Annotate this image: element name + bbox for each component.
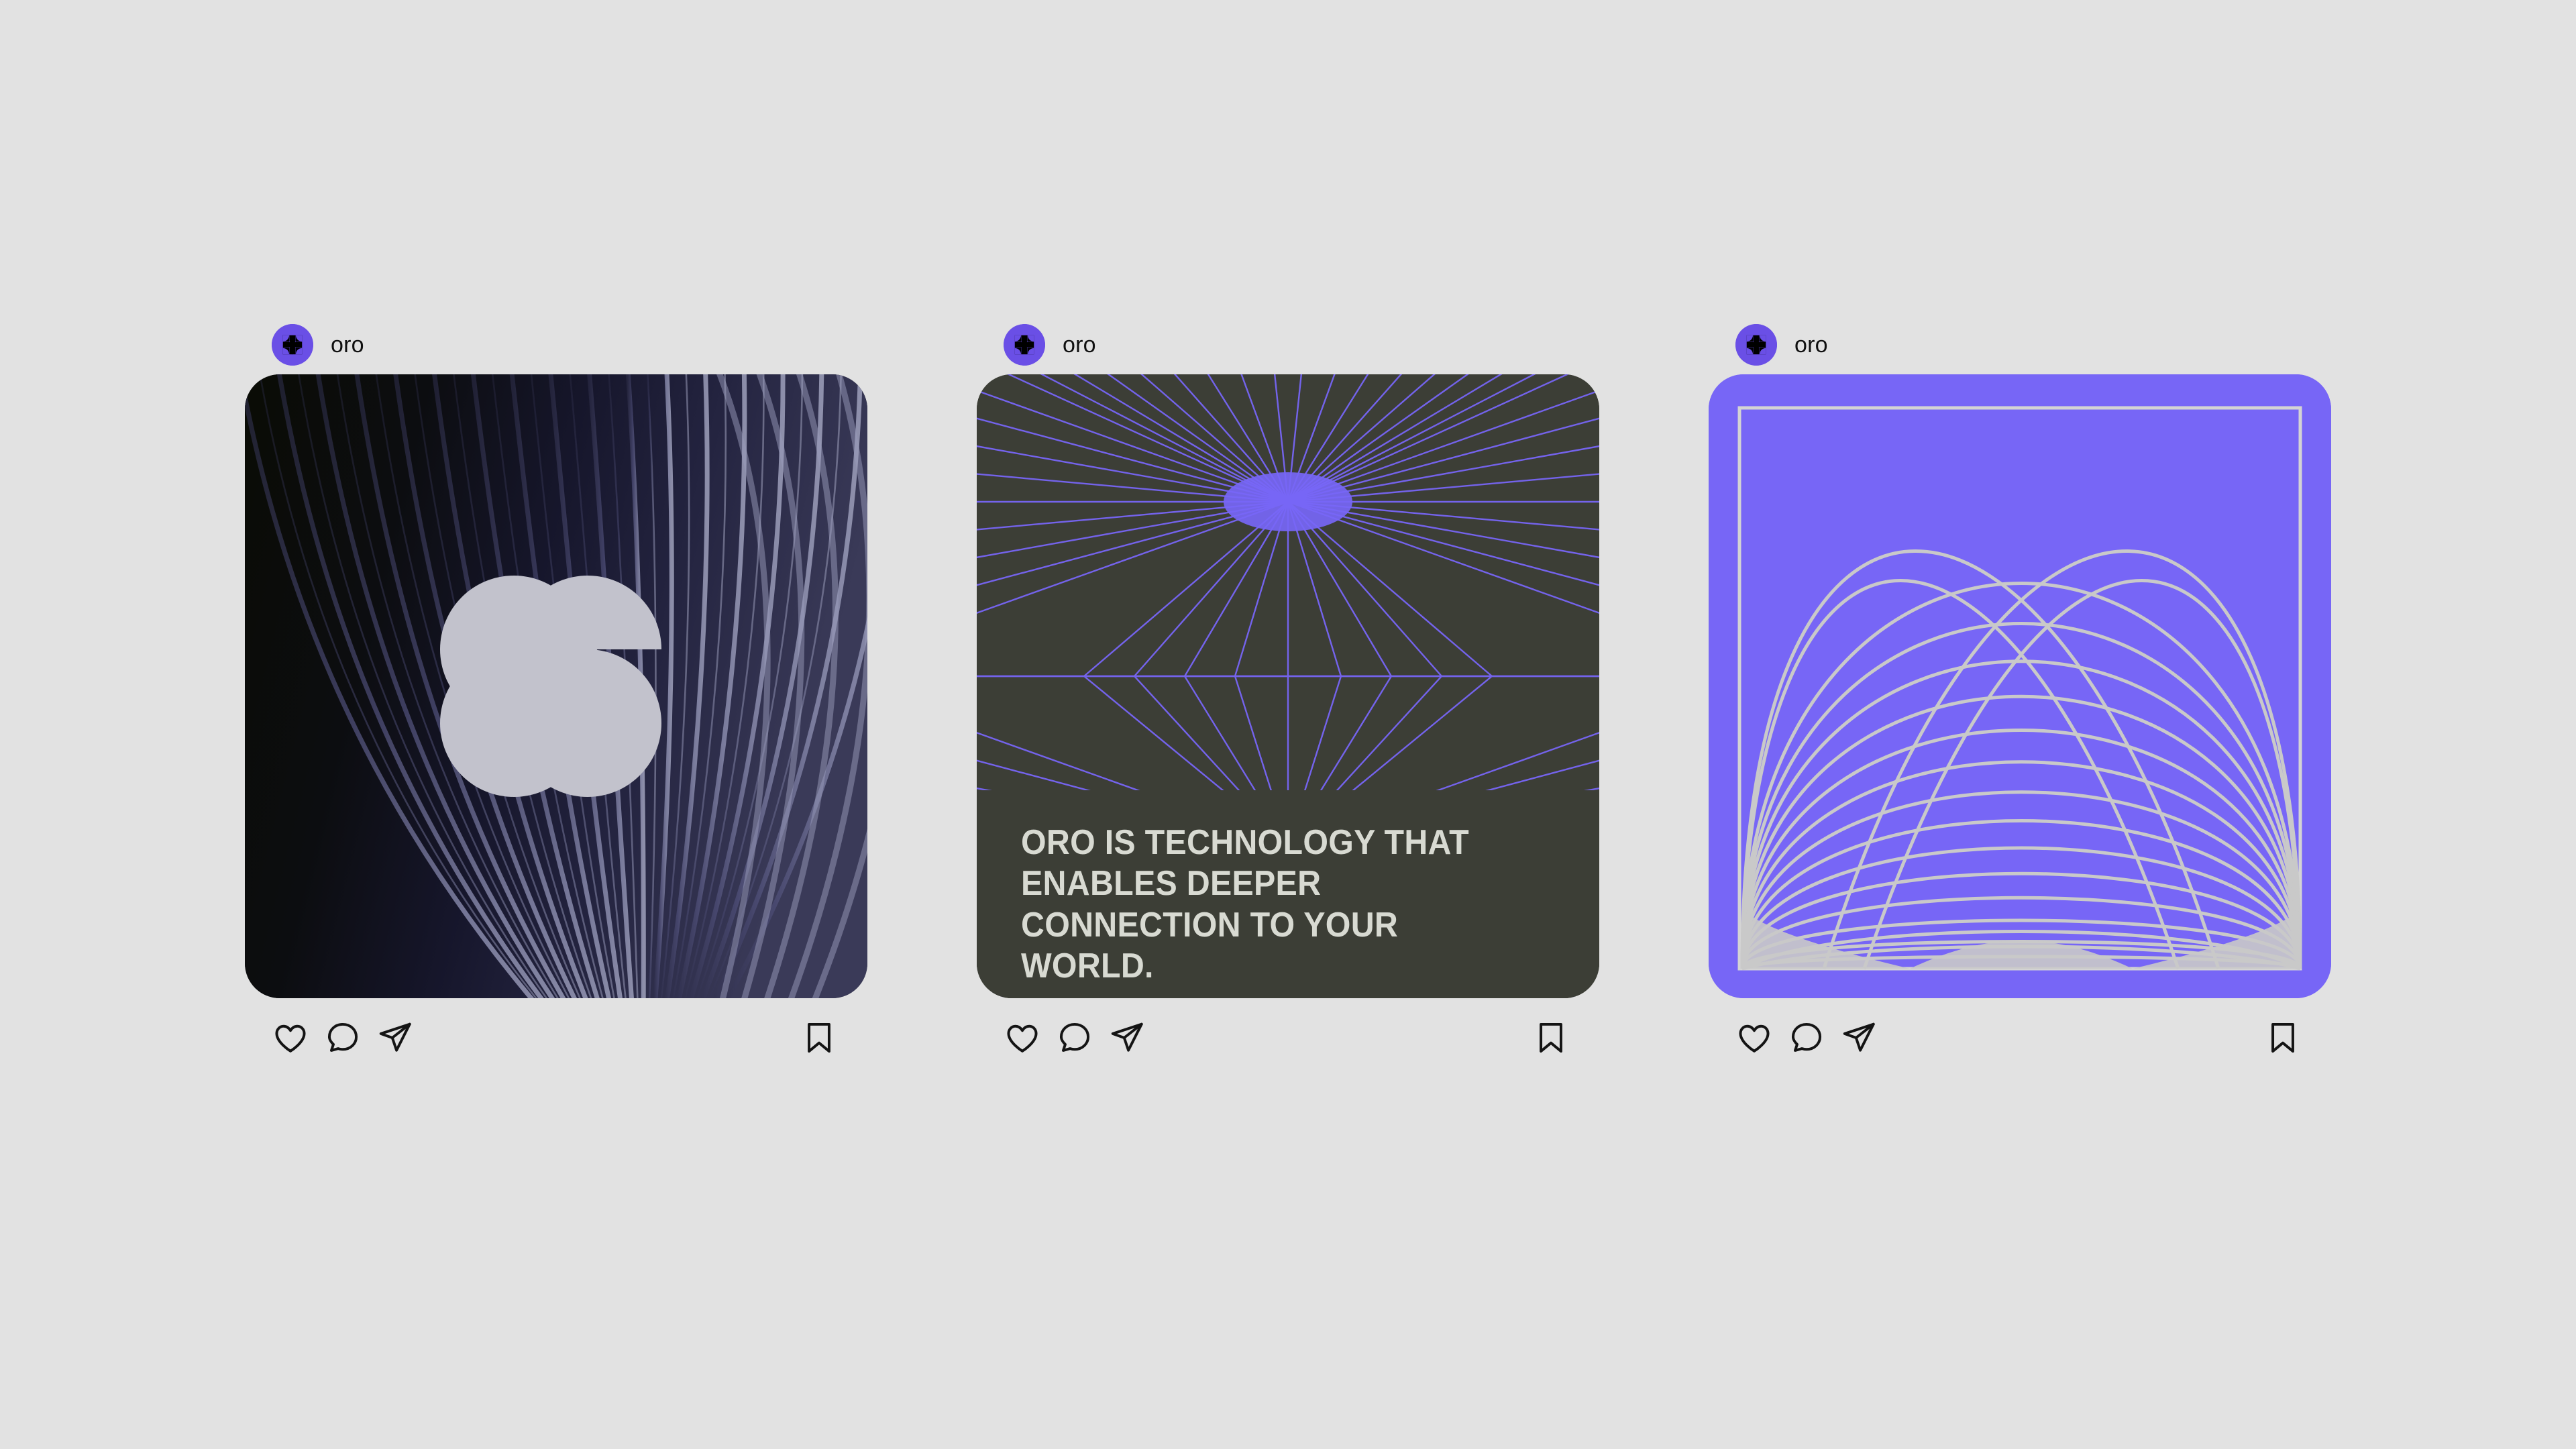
post-actions	[1709, 998, 2331, 1077]
post-media[interactable]	[245, 374, 867, 998]
heart-icon	[272, 1019, 309, 1057]
post-caption: ORO IS TECHNOLOGY THAT ENABLES DEEPER CO…	[977, 790, 1599, 998]
share-button[interactable]	[374, 1016, 417, 1059]
bookmark-icon	[800, 1019, 838, 1057]
oro-rosette-logo-icon	[1735, 324, 1777, 366]
paper-plane-icon	[1840, 1019, 1878, 1057]
avatar[interactable]	[1004, 324, 1045, 366]
like-button[interactable]	[1733, 1016, 1776, 1059]
paper-plane-icon	[1108, 1019, 1146, 1057]
comment-button[interactable]	[1785, 1016, 1828, 1059]
comment-bubble-icon	[1788, 1019, 1825, 1057]
save-button[interactable]	[1529, 1016, 1572, 1059]
post-card: oro	[245, 315, 867, 1077]
nested-arc-image	[1709, 374, 2331, 998]
heart-icon	[1004, 1019, 1041, 1057]
comment-button[interactable]	[1053, 1016, 1096, 1059]
bookmark-icon	[1532, 1019, 1570, 1057]
post-header[interactable]: oro	[1709, 315, 2331, 374]
post-actions	[245, 998, 867, 1077]
save-button[interactable]	[2261, 1016, 2304, 1059]
oro-rosette-logo-icon	[272, 324, 313, 366]
heart-icon	[1735, 1019, 1773, 1057]
post-feed: oro	[245, 315, 2338, 1077]
avatar[interactable]	[1735, 324, 1777, 366]
post-actions-left	[269, 1016, 417, 1059]
share-button[interactable]	[1106, 1016, 1148, 1059]
share-button[interactable]	[1837, 1016, 1880, 1059]
comment-button[interactable]	[321, 1016, 364, 1059]
post-actions-left	[1001, 1016, 1148, 1059]
like-button[interactable]	[1001, 1016, 1044, 1059]
post-actions-left	[1733, 1016, 1880, 1059]
comment-bubble-icon	[1056, 1019, 1093, 1057]
oro-rosette-logo-icon	[1004, 324, 1045, 366]
comment-bubble-icon	[324, 1019, 362, 1057]
post-header[interactable]: oro	[245, 315, 867, 374]
ribbed-wave-image	[245, 374, 867, 998]
post-card: oro	[1709, 315, 2331, 1077]
post-card: oro	[977, 315, 1599, 1077]
account-name[interactable]: oro	[1063, 333, 1096, 356]
post-header[interactable]: oro	[977, 315, 1599, 374]
bookmark-icon	[2264, 1019, 2302, 1057]
like-button[interactable]	[269, 1016, 312, 1059]
post-actions	[977, 998, 1599, 1077]
account-name[interactable]: oro	[331, 333, 364, 356]
oro-rosette-logo-overlay	[440, 576, 661, 797]
post-media[interactable]: 007 ORO IS TECHNOLOGY THAT ENABLES DEEPE…	[977, 374, 1599, 998]
save-button[interactable]	[798, 1016, 841, 1059]
caption-text: ORO IS TECHNOLOGY THAT ENABLES DEEPER CO…	[1021, 822, 1526, 987]
account-name[interactable]: oro	[1794, 333, 1828, 356]
paper-plane-icon	[376, 1019, 414, 1057]
avatar[interactable]	[272, 324, 313, 366]
post-media[interactable]	[1709, 374, 2331, 998]
